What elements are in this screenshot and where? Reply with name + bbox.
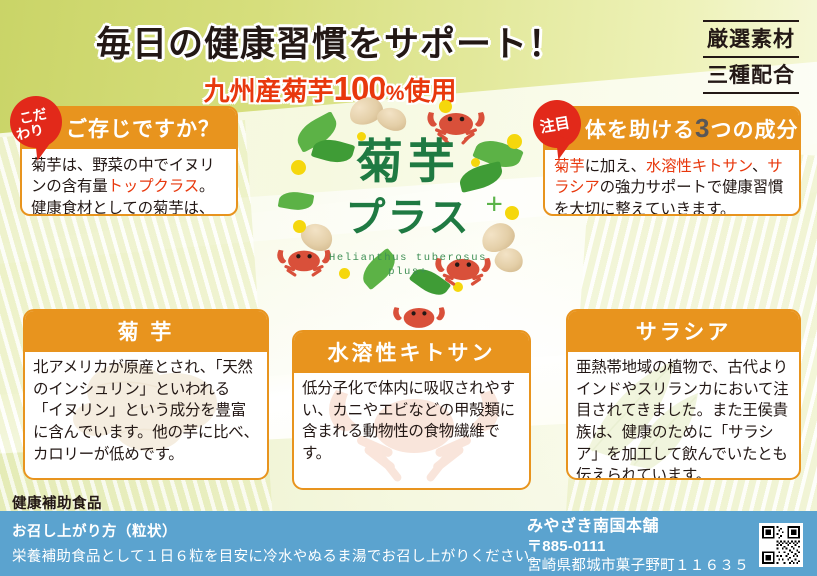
panel-right-highlight-2: 水溶性キトサン [646,158,752,175]
badge-line-2: 三種配合 [703,58,799,94]
selected-ingredients-badge: 厳選素材 三種配合 [703,20,799,94]
usage-text: 栄養補助食品として１日６粒を目安に冷水やぬるま湯でお召し上がりください。 [12,545,544,566]
logo-latin-line-2: plus+ [388,266,428,278]
panel-three-ingredients: 体を助ける3つの成分 菊芋に加え、水溶性キトサン、サラシアの強力サポートで健康習… [543,106,801,216]
panel-right-heading-pre: 体を助ける [585,119,695,142]
panel-right-heading-post: つの成分 [710,119,798,142]
panel-right-body-part-1: に加え、 [585,158,646,175]
panel-right-heading: 体を助ける3つの成分 [545,108,799,150]
usage-instructions: お召し上がり方（粒状） 栄養補助食品として１日６粒を目安に冷水やぬるま湯でお召し… [12,520,544,566]
logo-kana: プラス+ [283,198,533,238]
headline-main: 毎日の健康習慣をサポート！ [0,16,660,67]
company-name: みやざき南国本舗 [527,516,749,537]
kodawari-ribbon-badge: こだ わり [10,96,62,148]
product-label: 毎日の健康習慣をサポート！ 九州産菊芋100%使用 厳選素材 三種配合 [0,0,817,576]
logo-text: 菊芋 プラス+ Helianthus tuberosus plus+ [283,140,533,279]
ribbon-line-2: わり [15,122,45,142]
footer-bar: お召し上がり方（粒状） 栄養補助食品として１日６粒を目安に冷水やぬるま湯でお召し… [0,511,817,576]
headline-block: 毎日の健康習慣をサポート！ 九州産菊芋100%使用 [0,16,660,108]
card-title: サラシア [568,311,799,352]
logo-latin-line-1: Helianthus tuberosus [329,252,487,264]
card-title: 水溶性キトサン [294,332,529,373]
card-body: 亜熱帯地域の植物で、古代よりインドやスリランカにおいて注目されてきました。また王… [568,352,799,480]
logo-kanji: 菊芋 [283,140,533,187]
badge-line-1: 厳選素材 [703,20,799,58]
usage-title: お召し上がり方（粒状） [12,520,544,541]
chumoku-ribbon-badge: 注目 [533,100,581,148]
logo-latin: Helianthus tuberosus plus+ [283,251,533,279]
card-body: 北アメリカが原産とされ、「天然のインシュリン」といわれる「イヌリン」という成分を… [25,352,267,469]
ingredient-card-kikuimo: 菊 芋 北アメリカが原産とされ、「天然のインシュリン」といわれる「イヌリン」とい… [23,309,269,480]
card-body: 低分子化で体内に吸収されやすい、カニやエビなどの甲殻類に含まれる動物性の食物繊維… [294,373,529,469]
ingredient-card-chitosan: 水溶性キトサン 低分子化で体内に吸収されやすい、カニやエビなどの甲殻類に含まれる… [292,330,531,490]
logo-kana-text: プラス [345,195,470,240]
product-logo: 菊芋 プラス+ Helianthus tuberosus plus+ [283,96,533,311]
panel-right-body: 菊芋に加え、水溶性キトサン、サラシアの強力サポートで健康習慣を大切に整えていきま… [545,150,799,216]
logo-plus-icon: + [485,188,505,219]
panel-left-highlight: トップクラス [108,178,200,195]
card-title: 菊 芋 [25,311,267,352]
company-info: みやざき南国本舗 〒885-0111 宮崎県都城市菓子野町１１６３５ [527,516,749,576]
panel-right-highlight-1: 菊芋 [554,158,585,175]
company-postal-code: 〒885-0111 [527,537,749,557]
company-address: 宮崎県都城市菓子野町１１６３５ [527,557,749,576]
panel-right-body-part-2: 、 [752,158,767,175]
qr-code[interactable] [759,523,803,567]
ribbon-line-1: 注目 [539,116,571,136]
ingredient-card-salacia: サラシア 亜熱帯地域の植物で、古代よりインドやスリランカにおいて注目されてきまし… [566,309,801,480]
supplement-category-label: 健康補助食品 [12,492,102,513]
panel-right-heading-number: 3 [695,113,710,143]
